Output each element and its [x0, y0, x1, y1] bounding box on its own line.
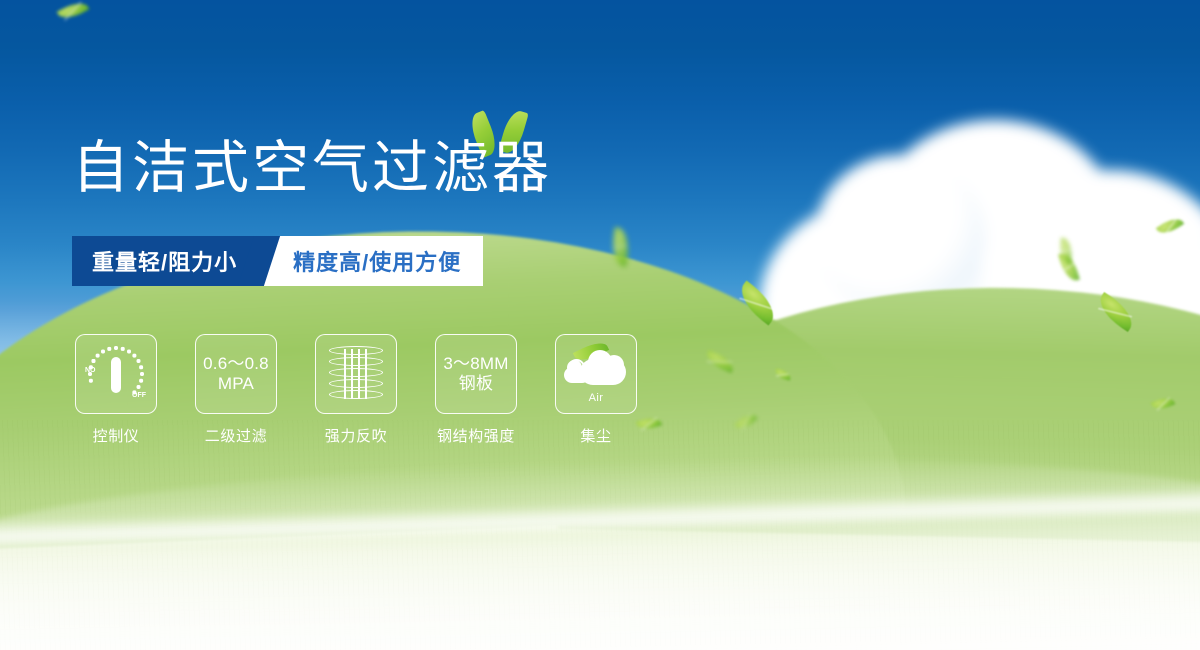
air-caption: Air: [564, 392, 628, 404]
feature-box-backblow: [315, 334, 397, 414]
feature-box-dust: Air: [555, 334, 637, 414]
pressure-text-icon: 0.6～0.8 MPA: [203, 354, 269, 394]
gauge-label-off: OFF: [132, 392, 146, 399]
product-banner: 自洁式空气过滤器 重量轻/阻力小 精度高/使用方便: [0, 0, 1200, 650]
steel-material: 钢板: [443, 374, 508, 394]
title-block: 自洁式空气过滤器: [72, 138, 552, 198]
feature-label-dust: 集尘: [580, 425, 611, 446]
pressure-unit: MPA: [203, 374, 269, 394]
feature-label-backblow: 强力反吹: [325, 425, 387, 446]
subtitle-bar: 重量轻/阻力小 精度高/使用方便: [72, 236, 483, 286]
feature-item-backblow[interactable]: 强力反吹: [310, 334, 402, 446]
feature-label-filtration: 二级过滤: [205, 425, 267, 446]
air-cloud-icon: Air: [564, 347, 628, 401]
feature-box-steel: 3～8MM 钢板: [435, 334, 517, 414]
steel-thickness: 3～8MM: [443, 354, 508, 373]
feature-item-controller[interactable]: NO OFF 控制仪: [70, 334, 162, 446]
air-sun-ring-icon: [568, 359, 585, 376]
gauge-icon: NO OFF: [85, 345, 147, 403]
feature-box-filtration: 0.6～0.8 MPA: [195, 334, 277, 414]
feature-item-steel[interactable]: 3～8MM 钢板 钢结构强度: [430, 334, 522, 446]
feature-box-controller: NO OFF: [75, 334, 157, 414]
gauge-needle: [111, 357, 121, 393]
gauge-label-no: NO: [85, 367, 96, 374]
feature-label-steel: 钢结构强度: [437, 425, 515, 446]
feature-item-dust[interactable]: Air 集尘: [550, 334, 642, 446]
subtitle-right: 精度高/使用方便: [259, 236, 483, 286]
steel-plate-text-icon: 3～8MM 钢板: [443, 354, 508, 394]
filter-cartridge-icon: [329, 345, 383, 403]
feature-list: NO OFF 控制仪 0.6～0.8 MPA 二级过滤: [70, 334, 642, 446]
subtitle-left: 重量轻/阻力小: [72, 236, 259, 286]
pressure-value: 0.6～0.8: [203, 354, 269, 373]
feature-item-filtration[interactable]: 0.6～0.8 MPA 二级过滤: [190, 334, 282, 446]
page-title: 自洁式空气过滤器: [72, 138, 552, 198]
feature-label-controller: 控制仪: [93, 425, 140, 446]
